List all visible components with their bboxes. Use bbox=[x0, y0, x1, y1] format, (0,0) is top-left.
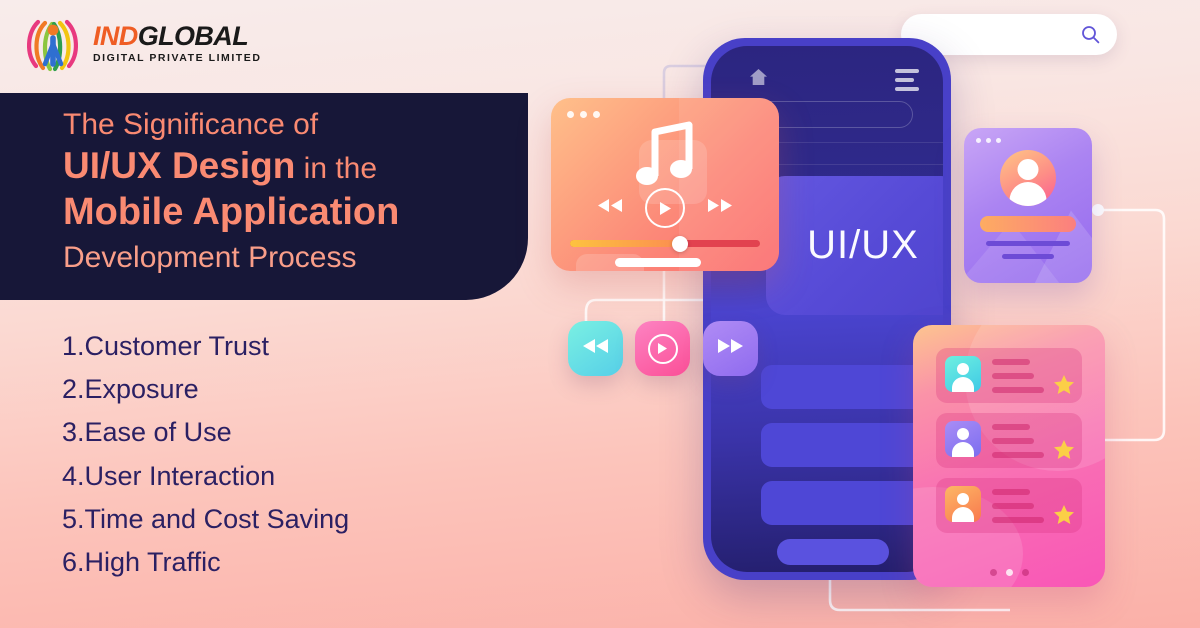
profile-text-line bbox=[1002, 254, 1054, 259]
rewind-icon[interactable] bbox=[597, 198, 623, 218]
rewind-button[interactable] bbox=[568, 321, 623, 376]
connector-dot bbox=[1092, 204, 1104, 216]
list-item[interactable] bbox=[936, 348, 1082, 403]
list-item[interactable] bbox=[936, 478, 1082, 533]
brand-logo[interactable]: INDGLOBAL DIGITAL PRIVATE LIMITED bbox=[22, 14, 261, 72]
profile-cta-button[interactable] bbox=[980, 216, 1076, 232]
headline-line-2-bold: UI/UX Design bbox=[63, 145, 295, 186]
rewind-icon bbox=[582, 338, 609, 359]
indglobal-arc-logo-icon bbox=[22, 14, 84, 72]
headline-line-2-rest: in the bbox=[295, 152, 377, 185]
play-icon[interactable] bbox=[645, 188, 685, 228]
headline-line-4: Development Process bbox=[63, 240, 528, 275]
brand-tagline: DIGITAL PRIVATE LIMITED bbox=[93, 53, 261, 64]
hamburger-menu-icon[interactable] bbox=[895, 69, 919, 96]
list-item: 6.High Traffic bbox=[62, 541, 349, 584]
banner-canvas: INDGLOBAL DIGITAL PRIVATE LIMITED The Si… bbox=[0, 0, 1200, 628]
music-player-card bbox=[551, 98, 779, 271]
star-icon[interactable] bbox=[1053, 374, 1075, 400]
profile-text-line bbox=[986, 241, 1070, 246]
list-item: 3.Ease of Use bbox=[62, 411, 349, 454]
list-card bbox=[913, 325, 1105, 587]
play-icon bbox=[648, 334, 678, 364]
list-item: 5.Time and Cost Saving bbox=[62, 498, 349, 541]
profile-card bbox=[964, 128, 1092, 283]
uiux-card: UI/UX bbox=[766, 176, 943, 315]
phone-content-bar bbox=[761, 423, 936, 467]
window-dots-icon bbox=[976, 138, 1001, 143]
phone-content-bar bbox=[761, 481, 936, 525]
star-icon[interactable] bbox=[1053, 439, 1075, 465]
star-icon[interactable] bbox=[1053, 504, 1075, 530]
music-note-icon bbox=[629, 120, 701, 195]
phone-home-indicator bbox=[777, 539, 889, 565]
fast-forward-icon[interactable] bbox=[707, 198, 733, 218]
uiux-card-label: UI/UX bbox=[807, 223, 919, 268]
progress-slider[interactable] bbox=[570, 240, 760, 247]
headline-line-3: Mobile Application bbox=[63, 190, 528, 235]
list-item: 2.Exposure bbox=[62, 368, 349, 411]
brand-wordmark: INDGLOBAL DIGITAL PRIVATE LIMITED bbox=[93, 23, 261, 64]
pagination-dots[interactable] bbox=[913, 569, 1105, 576]
benefits-list: 1.Customer Trust 2.Exposure 3.Ease of Us… bbox=[62, 325, 349, 584]
fast-forward-icon bbox=[717, 338, 744, 359]
search-icon[interactable] bbox=[1081, 25, 1100, 44]
user-avatar-icon bbox=[945, 356, 981, 392]
user-avatar-icon bbox=[945, 421, 981, 457]
phone-content-bar bbox=[761, 365, 936, 409]
user-avatar-icon bbox=[1000, 150, 1056, 206]
brand-name-part2: GLOBAL bbox=[138, 21, 248, 51]
home-icon[interactable] bbox=[749, 68, 768, 91]
window-dots-icon bbox=[567, 111, 600, 118]
headline-block: The Significance of UI/UX Design in the … bbox=[0, 93, 528, 300]
pagination-dot[interactable] bbox=[990, 569, 997, 576]
user-avatar-icon bbox=[945, 486, 981, 522]
brand-name-part1: IND bbox=[93, 21, 138, 51]
pagination-dot-active[interactable] bbox=[1006, 569, 1013, 576]
slider-handle[interactable] bbox=[672, 236, 688, 252]
play-button[interactable] bbox=[635, 321, 690, 376]
list-item: 4.User Interaction bbox=[62, 455, 349, 498]
forward-button[interactable] bbox=[703, 321, 758, 376]
list-item: 1.Customer Trust bbox=[62, 325, 349, 368]
headline-line-1: The Significance of bbox=[63, 107, 528, 142]
list-item[interactable] bbox=[936, 413, 1082, 468]
pagination-dot[interactable] bbox=[1022, 569, 1029, 576]
